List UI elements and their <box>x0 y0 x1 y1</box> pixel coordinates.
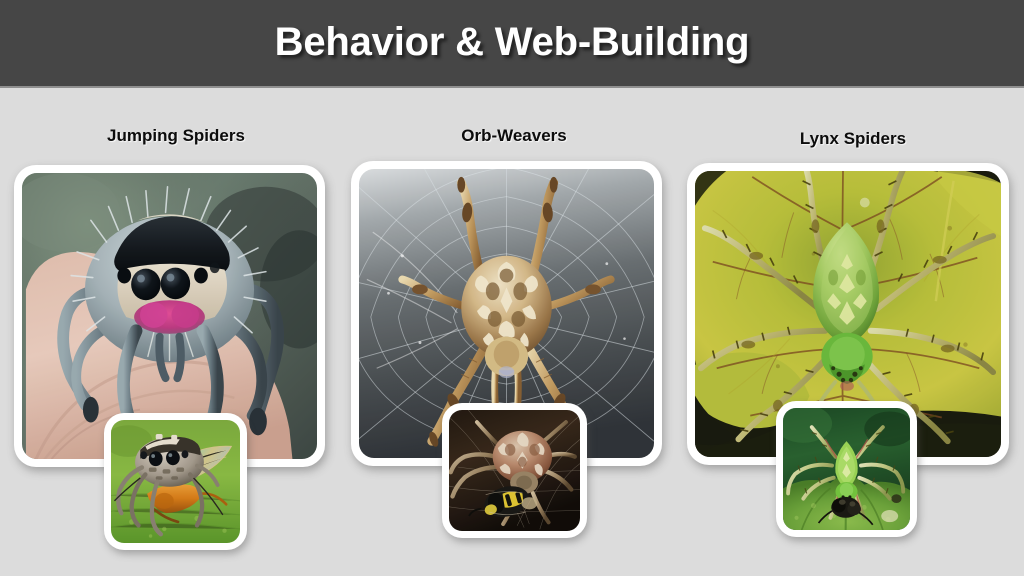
column-label-lynx-spiders: Lynx Spiders <box>682 129 1024 149</box>
orb-weaver-prey-photo <box>449 410 580 531</box>
column-orb-weavers: Orb-Weavers <box>344 90 684 576</box>
inset-photo-card-orb-weavers[interactable] <box>442 403 587 538</box>
green-lynx-spider-prey-photo <box>783 408 910 530</box>
jumping-spider-prey-photo <box>111 420 240 543</box>
column-label-orb-weavers: Orb-Weavers <box>344 126 684 146</box>
slide-canvas: Behavior & Web-Building Jumping Spiders <box>0 0 1024 576</box>
slide-header-bar: Behavior & Web-Building <box>0 0 1024 88</box>
page-title: Behavior & Web-Building <box>0 20 1024 65</box>
inset-photo-card-jumping-spiders[interactable] <box>104 413 247 550</box>
inset-photo-card-lynx-spiders[interactable] <box>776 401 917 537</box>
column-label-jumping-spiders: Jumping Spiders <box>6 126 346 146</box>
column-jumping-spiders: Jumping Spiders <box>6 90 346 576</box>
column-lynx-spiders: Lynx Spiders <box>682 90 1024 576</box>
